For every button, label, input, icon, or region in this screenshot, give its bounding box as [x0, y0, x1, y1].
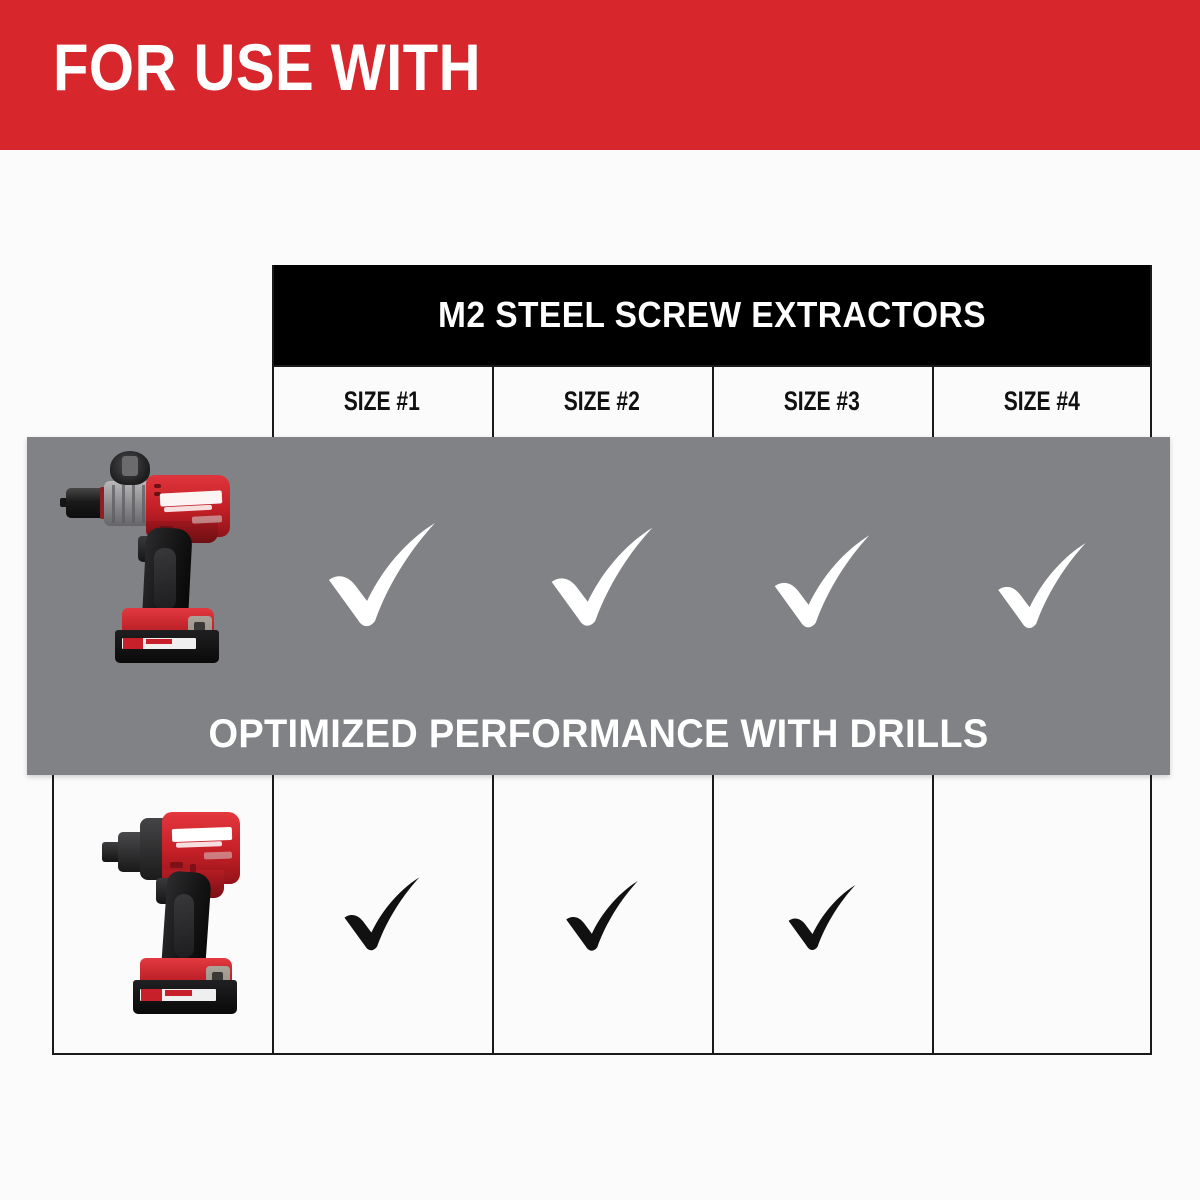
column-header-size-3-label: SIZE #3: [784, 386, 860, 417]
header-divider: [272, 365, 1152, 367]
check-drill-size-1: [272, 477, 492, 677]
check-impact-size-4-empty: [932, 839, 1152, 999]
table-header-title: M2 STEEL SCREW EXTRACTORS: [303, 265, 1121, 365]
check-drill-size-2: [492, 479, 712, 679]
column-header-size-4: SIZE #4: [932, 365, 1152, 437]
check-drill-size-3: [712, 483, 932, 683]
column-header-size-2-label: SIZE #2: [564, 386, 640, 417]
table-row: [52, 775, 1152, 1055]
drill-icon: [60, 448, 235, 663]
check-impact-size-2: [492, 837, 712, 997]
check-impact-size-1: [272, 835, 492, 995]
compatibility-table: M2 STEEL SCREW EXTRACTORS SIZE #1 SIZE #…: [0, 0, 1200, 1200]
check-impact-size-3: [712, 839, 932, 999]
column-header-size-1: SIZE #1: [272, 365, 492, 437]
check-drill-size-4: [932, 487, 1152, 687]
column-header-size-1-label: SIZE #1: [344, 386, 420, 417]
table-header-bar: M2 STEEL SCREW EXTRACTORS: [272, 265, 1152, 365]
page-root: FOR USE WITH M2 STEEL SCREW EXTRACTORS S…: [0, 0, 1200, 1200]
column-header-size-3: SIZE #3: [712, 365, 932, 437]
column-header-size-2: SIZE #2: [492, 365, 712, 437]
table-row: OPTIMIZED PERFORMANCE WITH DRILLS: [27, 437, 1170, 775]
row-caption-drills: OPTIMIZED PERFORMANCE WITH DRILLS: [56, 712, 1142, 757]
impact-driver-icon: [100, 800, 260, 1030]
column-header-size-4-label: SIZE #4: [1004, 386, 1080, 417]
